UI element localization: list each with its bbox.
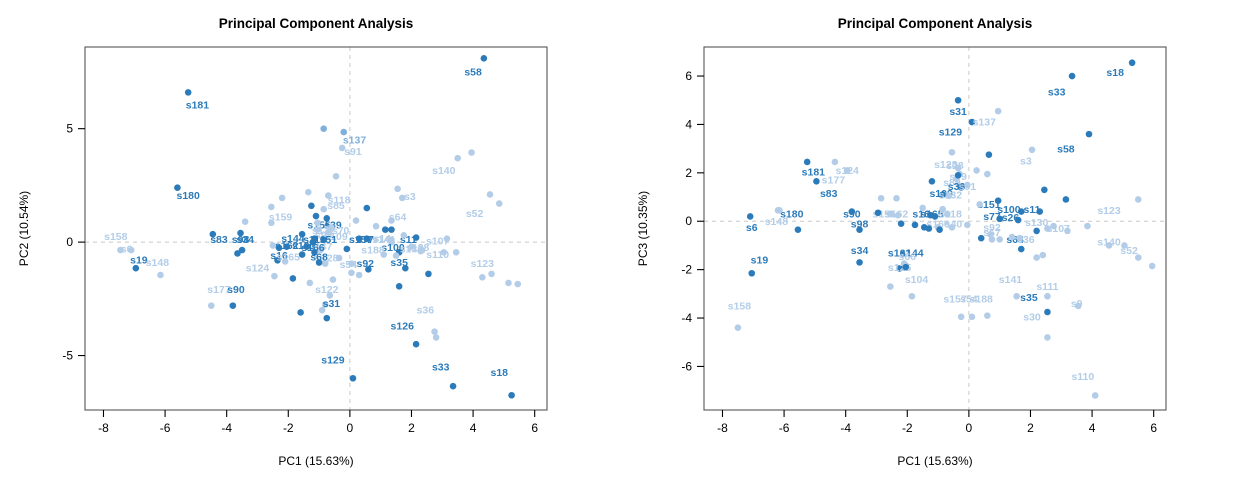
data-point: [936, 226, 943, 233]
point-label: s130: [1025, 217, 1049, 229]
data-point: [408, 243, 415, 250]
data-point-s9: s9: [1071, 298, 1083, 310]
plot-svg-pca-pc1-pc2: Principal Component Analysiss58s181s137s…: [0, 0, 619, 500]
point-marker: [356, 272, 363, 279]
data-point: [279, 195, 286, 202]
point-marker: [330, 276, 337, 283]
point-marker: [393, 252, 400, 259]
data-point-s137: s137: [973, 108, 1002, 129]
point-label: s85: [327, 200, 345, 212]
data-point: [330, 276, 337, 283]
data-point-s3: s3: [399, 191, 416, 203]
data-point-s52: s52: [1120, 245, 1141, 261]
point-label: s9: [1071, 298, 1083, 310]
point-marker: [268, 204, 275, 211]
data-point: [396, 283, 403, 290]
point-marker: [875, 209, 882, 216]
data-point: [878, 195, 885, 202]
point-marker: [320, 206, 327, 213]
data-point: [308, 203, 315, 210]
data-point-s54: s54: [340, 259, 358, 276]
point-marker: [969, 314, 976, 321]
data-point: [1063, 196, 1070, 203]
point-marker: [1009, 234, 1016, 241]
point-label: s140: [432, 165, 456, 177]
point-marker: [382, 226, 389, 233]
point-marker: [939, 206, 946, 213]
point-label: s58: [464, 66, 482, 78]
point-marker: [1063, 196, 1070, 203]
point-label: s98: [851, 218, 869, 230]
data-point: [919, 205, 926, 212]
point-label: s110: [426, 249, 449, 261]
point-marker: [313, 213, 320, 220]
point-label: s148: [146, 257, 170, 269]
data-point-s40: s40: [945, 218, 963, 230]
point-label: s124: [246, 263, 270, 275]
point-marker: [450, 383, 457, 390]
data-point: [875, 209, 882, 216]
point-marker: [1016, 235, 1023, 242]
data-point-s58: s58: [1057, 131, 1092, 155]
data-point-s35: s35: [390, 257, 408, 272]
point-marker: [958, 314, 965, 321]
point-marker: [1033, 228, 1040, 235]
point-marker: [1041, 186, 1048, 193]
point-label: s141: [999, 274, 1023, 286]
point-marker: [978, 235, 985, 242]
y-tick-label: 0: [685, 214, 692, 228]
data-point: [393, 252, 400, 259]
point-label: s3: [1020, 155, 1032, 167]
point-label: s137: [343, 134, 367, 146]
point-marker: [1149, 263, 1156, 270]
point-marker: [425, 271, 432, 278]
point-marker: [919, 205, 926, 212]
point-label: s92: [357, 258, 375, 270]
point-marker: [364, 205, 371, 212]
data-point: [1106, 242, 1113, 249]
data-point-s129: s129: [321, 354, 356, 381]
point-marker: [327, 292, 334, 299]
point-label: s36: [417, 305, 435, 317]
data-point: [327, 292, 334, 299]
point-label: s129: [939, 126, 963, 138]
point-label: s110: [1071, 371, 1094, 383]
point-marker: [454, 155, 461, 162]
point-label: s11: [1024, 204, 1041, 216]
x-tick-label: 4: [1089, 421, 1096, 435]
point-label: s18: [490, 367, 508, 379]
point-marker: [453, 249, 460, 256]
data-point-s18: s18: [1106, 59, 1135, 79]
point-marker: [1129, 59, 1136, 66]
point-marker: [995, 108, 1002, 115]
point-marker: [1084, 223, 1091, 230]
point-marker: [887, 283, 894, 290]
data-point-s110: s110: [1071, 371, 1098, 399]
point-marker: [320, 125, 327, 132]
data-point-s124: s124: [246, 263, 278, 280]
data-point: [364, 205, 371, 212]
data-point-s181: s181: [185, 89, 209, 111]
data-point: [1009, 234, 1016, 241]
point-label: s188: [361, 244, 385, 256]
point-marker: [481, 55, 488, 62]
point-label: s33: [1048, 86, 1066, 98]
point-marker: [1069, 73, 1076, 80]
point-label: s6: [746, 222, 758, 234]
data-point: [479, 274, 486, 281]
point-label: s158: [104, 231, 128, 243]
data-point-s123: s123: [1097, 196, 1141, 217]
point-marker: [279, 195, 286, 202]
data-point-s64: s64: [388, 212, 406, 224]
point-label: s158: [728, 301, 752, 313]
point-marker: [1033, 254, 1040, 261]
data-point: [394, 185, 401, 192]
point-label: s64: [389, 212, 407, 224]
data-point-s110: s110: [426, 249, 449, 261]
data-point-s58: s58: [464, 55, 487, 78]
point-marker: [157, 272, 164, 279]
y-tick-label: 6: [685, 69, 692, 83]
point-label: s34: [236, 234, 254, 246]
data-point: [964, 222, 971, 229]
data-point: [1016, 235, 1023, 242]
x-tick-label: 6: [1150, 421, 1157, 435]
point-marker: [984, 171, 991, 178]
point-marker: [813, 178, 820, 185]
point-label: s34: [851, 245, 869, 257]
data-point-s18: s18: [490, 367, 514, 399]
point-marker: [208, 302, 215, 309]
data-point-s90: s90: [227, 284, 245, 309]
data-point-s30: s30: [1023, 311, 1050, 340]
data-point: [320, 125, 327, 132]
point-marker: [976, 201, 983, 208]
data-point-s36: s36: [417, 305, 438, 335]
data-point: [468, 149, 475, 156]
point-marker: [795, 226, 802, 233]
point-marker: [276, 244, 283, 251]
data-point: [336, 255, 343, 262]
point-marker: [1106, 242, 1113, 249]
x-tick-label: -4: [221, 421, 232, 435]
data-point: [310, 239, 317, 246]
point-label: s40: [945, 218, 963, 230]
data-point: [373, 223, 380, 230]
y-axis-label: PC3 (10.35%): [636, 191, 650, 266]
point-marker: [775, 207, 782, 214]
data-point: [356, 272, 363, 279]
point-label: s90: [227, 284, 245, 296]
data-point-s148: s148: [146, 257, 170, 278]
point-marker: [1050, 223, 1057, 230]
data-point: [1040, 252, 1047, 259]
point-marker: [508, 392, 515, 399]
point-marker: [408, 243, 415, 250]
point-marker: [242, 218, 249, 225]
point-marker: [909, 293, 916, 300]
data-point: [319, 307, 326, 314]
point-label: s123: [1097, 205, 1121, 217]
data-point: [929, 178, 936, 185]
point-label: s126: [391, 320, 415, 332]
y-axis-label: PC2 (10.54%): [17, 191, 31, 266]
data-point: [268, 220, 275, 227]
point-marker: [488, 271, 495, 278]
point-marker: [996, 236, 1003, 243]
point-marker: [986, 151, 993, 158]
point-marker: [878, 195, 885, 202]
point-label: s148: [765, 216, 789, 228]
data-point: [382, 226, 389, 233]
point-label: s111: [1036, 281, 1058, 293]
point-label: s35: [390, 257, 408, 269]
point-label: s91: [344, 146, 362, 158]
data-point: [425, 271, 432, 278]
data-point: [388, 226, 395, 233]
data-point-s165: s165: [277, 251, 301, 264]
data-point: [234, 250, 241, 257]
point-marker: [748, 270, 755, 277]
data-point-s34: s34: [236, 234, 254, 253]
data-point: [926, 225, 933, 232]
point-marker: [514, 281, 521, 288]
data-point: [978, 235, 985, 242]
point-marker: [936, 226, 943, 233]
data-point: [453, 249, 460, 256]
point-marker: [319, 307, 326, 314]
x-tick-label: 2: [408, 421, 415, 435]
data-point-s107: s107: [426, 235, 450, 247]
data-point-s33: s33: [432, 361, 456, 389]
data-point: [939, 206, 946, 213]
y-tick-label: -4: [681, 311, 692, 325]
data-point: [514, 281, 521, 288]
data-point-s126: s126: [391, 320, 420, 347]
data-point: [912, 222, 919, 229]
point-marker: [348, 260, 355, 267]
y-tick-label: -5: [62, 349, 73, 363]
point-label: s31: [949, 106, 967, 118]
data-point-s107: s107: [1047, 223, 1071, 235]
point-label: s33: [432, 361, 450, 373]
y-tick-label: -6: [681, 359, 692, 373]
point-marker: [496, 200, 503, 207]
data-point-s188: s188: [361, 244, 387, 257]
plot-title: Principal Component Analysis: [219, 16, 414, 31]
data-point: [290, 275, 297, 282]
point-label: s83: [820, 188, 838, 200]
point-marker: [898, 220, 905, 227]
point-marker: [735, 324, 742, 331]
data-point-s83: s83: [210, 231, 228, 246]
data-point-s11: s11: [1024, 204, 1043, 216]
data-point: [1041, 186, 1048, 193]
x-tick-label: -4: [840, 421, 851, 435]
data-point-s132: s132: [939, 189, 963, 201]
data-point: [1084, 223, 1091, 230]
data-point: [496, 200, 503, 207]
point-label: s6: [121, 243, 133, 255]
point-marker: [973, 167, 980, 174]
data-point-s180: s180: [174, 184, 200, 202]
point-marker: [336, 255, 343, 262]
point-marker: [856, 259, 863, 266]
data-point: [898, 220, 905, 227]
x-tick-label: 0: [966, 421, 973, 435]
point-label: s188: [970, 293, 994, 305]
point-marker: [955, 172, 962, 179]
point-label: s107: [426, 235, 450, 247]
data-point-s91: s91: [339, 145, 362, 158]
data-point-s104: s104: [905, 274, 929, 300]
point-marker: [984, 312, 991, 319]
point-marker: [1044, 309, 1051, 316]
y-tick-label: 5: [66, 122, 73, 136]
point-marker: [305, 189, 312, 196]
point-marker: [468, 149, 475, 156]
data-point-s111: s111: [1036, 281, 1058, 299]
point-marker: [804, 159, 811, 166]
data-point: [505, 280, 512, 287]
x-tick-label: 2: [1027, 421, 1034, 435]
data-point-s124: s124: [836, 165, 860, 177]
point-label: s129: [321, 354, 345, 366]
data-point: [984, 171, 991, 178]
data-point: [307, 280, 314, 287]
x-tick-label: -6: [779, 421, 790, 435]
data-point: [344, 246, 351, 253]
point-label: s52: [1120, 245, 1138, 257]
data-point: [353, 217, 360, 224]
point-label: s104: [905, 274, 929, 286]
point-label: s165: [277, 251, 301, 263]
point-marker: [955, 97, 962, 104]
point-label: s181: [186, 99, 210, 111]
data-point: [303, 243, 310, 250]
x-tick-label: -8: [717, 421, 728, 435]
x-tick-label: -2: [283, 421, 294, 435]
point-marker: [505, 280, 512, 287]
data-point: [1033, 228, 1040, 235]
pca-panel-pc2: Principal Component Analysiss58s181s137s…: [0, 0, 619, 500]
point-marker: [1092, 392, 1099, 399]
point-label: s132: [939, 189, 963, 201]
data-point-s26: s26: [1002, 212, 1022, 224]
y-tick-label: -2: [681, 263, 692, 277]
point-marker: [394, 185, 401, 192]
pca-panel-pc3: Principal Component Analysiss18s33s31s13…: [619, 0, 1238, 500]
point-marker: [353, 217, 360, 224]
point-label: s124: [836, 165, 860, 177]
data-point: [348, 260, 355, 267]
point-marker: [1044, 293, 1051, 300]
point-label: s58: [1057, 143, 1075, 155]
y-tick-label: 0: [66, 235, 73, 249]
data-point: [893, 195, 900, 202]
point-label: s52: [466, 208, 484, 220]
point-marker: [310, 239, 317, 246]
point-label: s137: [973, 117, 997, 129]
point-marker: [912, 222, 919, 229]
point-marker: [373, 223, 380, 230]
point-marker: [926, 225, 933, 232]
point-marker: [268, 220, 275, 227]
data-point-s52: s52: [466, 191, 493, 220]
point-label: s180: [177, 190, 201, 202]
x-tick-label: -8: [98, 421, 109, 435]
point-marker: [323, 315, 330, 322]
data-point: [976, 201, 983, 208]
point-label: s19: [751, 255, 769, 267]
data-point-s3: s3: [1020, 147, 1035, 168]
point-marker: [388, 226, 395, 233]
data-point: [1149, 263, 1156, 270]
point-marker: [964, 222, 971, 229]
data-point: [270, 242, 277, 249]
point-marker: [1044, 334, 1051, 341]
x-tick-label: 4: [470, 421, 477, 435]
data-point-s6: s6: [746, 213, 758, 234]
data-point-s158: s158: [728, 301, 752, 331]
point-marker: [1086, 131, 1093, 138]
point-marker: [747, 213, 754, 220]
plot-title: Principal Component Analysis: [838, 16, 1033, 31]
data-point-s141: s141: [999, 274, 1023, 300]
point-label: s18: [1106, 67, 1124, 79]
point-label: s31: [323, 298, 341, 310]
point-marker: [396, 283, 403, 290]
data-point: [333, 173, 340, 180]
point-label: s68: [310, 251, 328, 263]
data-point: [242, 218, 249, 225]
data-point-s33: s33: [1048, 73, 1075, 99]
point-marker: [479, 274, 486, 281]
point-marker: [234, 250, 241, 257]
point-marker: [400, 232, 407, 239]
point-marker: [413, 341, 420, 348]
point-label: s107: [1047, 223, 1071, 235]
y-tick-label: 2: [685, 166, 692, 180]
y-tick-label: 4: [685, 117, 692, 131]
point-marker: [308, 203, 315, 210]
data-point-s92: s92: [357, 258, 375, 273]
point-label: s54: [340, 259, 358, 271]
point-label: s3: [404, 191, 416, 203]
point-marker: [307, 280, 314, 287]
point-marker: [1040, 252, 1047, 259]
x-axis-label: PC1 (15.63%): [897, 454, 972, 468]
point-marker: [333, 173, 340, 180]
point-marker: [270, 242, 277, 249]
data-point: [986, 151, 993, 158]
point-marker: [949, 149, 956, 156]
point-label: s30: [1023, 311, 1041, 323]
data-point: [973, 167, 980, 174]
point-marker: [350, 375, 357, 382]
point-label: s123: [471, 258, 495, 270]
x-axis-label: PC1 (15.63%): [278, 454, 353, 468]
point-label: s83: [210, 234, 228, 246]
x-tick-label: -6: [160, 421, 171, 435]
x-tick-label: -2: [902, 421, 913, 435]
point-marker: [431, 328, 438, 335]
point-marker: [487, 191, 494, 198]
point-marker: [902, 264, 909, 271]
